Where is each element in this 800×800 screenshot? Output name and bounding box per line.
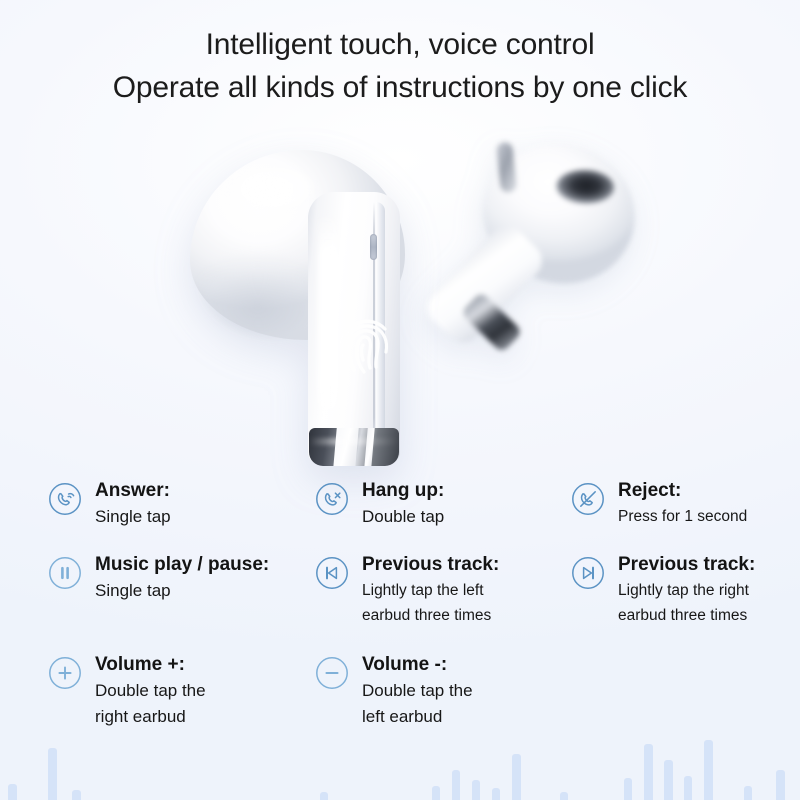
headline-secondary: Operate all kinds of instructions by one… [0, 66, 800, 110]
earbud-primary-microphone-slot [370, 234, 377, 260]
waveform-bar [560, 792, 568, 800]
feature-item-volume-down: Volume -: Double tap the left earbud [315, 652, 571, 742]
earbud-primary [190, 140, 450, 470]
waveform-bar [684, 776, 692, 800]
feature-row: Answer: Single tap Hang up: Double tap [48, 478, 800, 552]
phone-reject-icon [571, 482, 605, 516]
waveform-bar [664, 760, 673, 800]
feature-title: Hang up: [362, 478, 444, 504]
feature-text: Volume +: Double tap the right earbud [95, 652, 206, 730]
feature-item-previous-track-right: Previous track: Lightly tap the right ea… [571, 552, 800, 652]
feature-title: Previous track: [618, 552, 755, 578]
product-image [0, 130, 800, 480]
waveform-bar [472, 780, 480, 800]
waveform-bar [432, 786, 440, 800]
feature-item-music-play-pause: Music play / pause: Single tap [48, 552, 315, 652]
feature-item-hang-up: Hang up: Double tap [315, 478, 571, 552]
waveform-bar [704, 740, 713, 800]
minus-icon [315, 656, 349, 690]
feature-description: Double tap the left earbud [362, 678, 473, 730]
feature-description: Lightly tap the right earbud three times [618, 578, 755, 628]
next-track-icon [571, 556, 605, 590]
waveform-bar [776, 770, 785, 800]
feature-description: Single tap [95, 504, 171, 530]
earbud-primary-charging-contacts [309, 428, 399, 466]
feature-item-previous-track-left: Previous track: Lightly tap the left ear… [315, 552, 571, 652]
waveform-bar [452, 770, 460, 800]
waveform-bar [624, 778, 632, 800]
feature-description: Double tap the right earbud [95, 678, 206, 730]
feature-title: Volume +: [95, 652, 206, 678]
feature-title: Music play / pause: [95, 552, 269, 578]
feature-row: Volume +: Double tap the right earbud Vo… [48, 652, 800, 742]
feature-title: Volume -: [362, 652, 473, 678]
feature-title: Previous track: [362, 552, 499, 578]
fingerprint-touch-icon [332, 312, 396, 382]
feature-description: Single tap [95, 578, 269, 604]
feature-description: Lightly tap the left earbud three times [362, 578, 499, 628]
waveform-bar [512, 754, 521, 800]
waveform-bar [8, 784, 17, 800]
headline-primary: Intelligent touch, voice control [0, 24, 800, 66]
feature-text: Volume -: Double tap the left earbud [362, 652, 473, 730]
headline-block: Intelligent touch, voice control Operate… [0, 24, 800, 110]
promo-page: Intelligent touch, voice control Operate… [0, 0, 800, 800]
feature-item-reject: Reject: Press for 1 second [571, 478, 800, 552]
waveform-bar [72, 790, 81, 800]
feature-text: Reject: Press for 1 second [618, 478, 747, 529]
waveform-bar [644, 744, 653, 800]
waveform-bar [320, 792, 328, 800]
previous-track-icon [315, 556, 349, 590]
waveform-bar [744, 786, 752, 800]
phone-hangup-icon [315, 482, 349, 516]
feature-description: Press for 1 second [618, 504, 747, 529]
feature-text: Previous track: Lightly tap the right ea… [618, 552, 755, 628]
feature-item-answer: Answer: Single tap [48, 478, 315, 552]
feature-text: Previous track: Lightly tap the left ear… [362, 552, 499, 628]
waveform-bar [492, 788, 500, 800]
feature-text: Hang up: Double tap [362, 478, 444, 530]
feature-title: Reject: [618, 478, 747, 504]
earbud-tip-highlight [309, 438, 399, 445]
feature-row: Music play / pause: Single tap Previous … [48, 552, 800, 652]
feature-title: Answer: [95, 478, 171, 504]
feature-list: Answer: Single tap Hang up: Double tap [48, 478, 800, 742]
feature-description: Double tap [362, 504, 444, 530]
feature-text: Music play / pause: Single tap [95, 552, 269, 604]
plus-icon [48, 656, 82, 690]
feature-item-empty [571, 652, 800, 742]
earbud-tip-segment-b [364, 428, 374, 466]
pause-icon [48, 556, 82, 590]
earbud-secondary [436, 120, 669, 396]
earbud-tip-segment-a [333, 428, 358, 466]
waveform-bar [48, 748, 57, 800]
phone-answer-icon [48, 482, 82, 516]
feature-text: Answer: Single tap [95, 478, 171, 530]
feature-item-volume-up: Volume +: Double tap the right earbud [48, 652, 315, 742]
